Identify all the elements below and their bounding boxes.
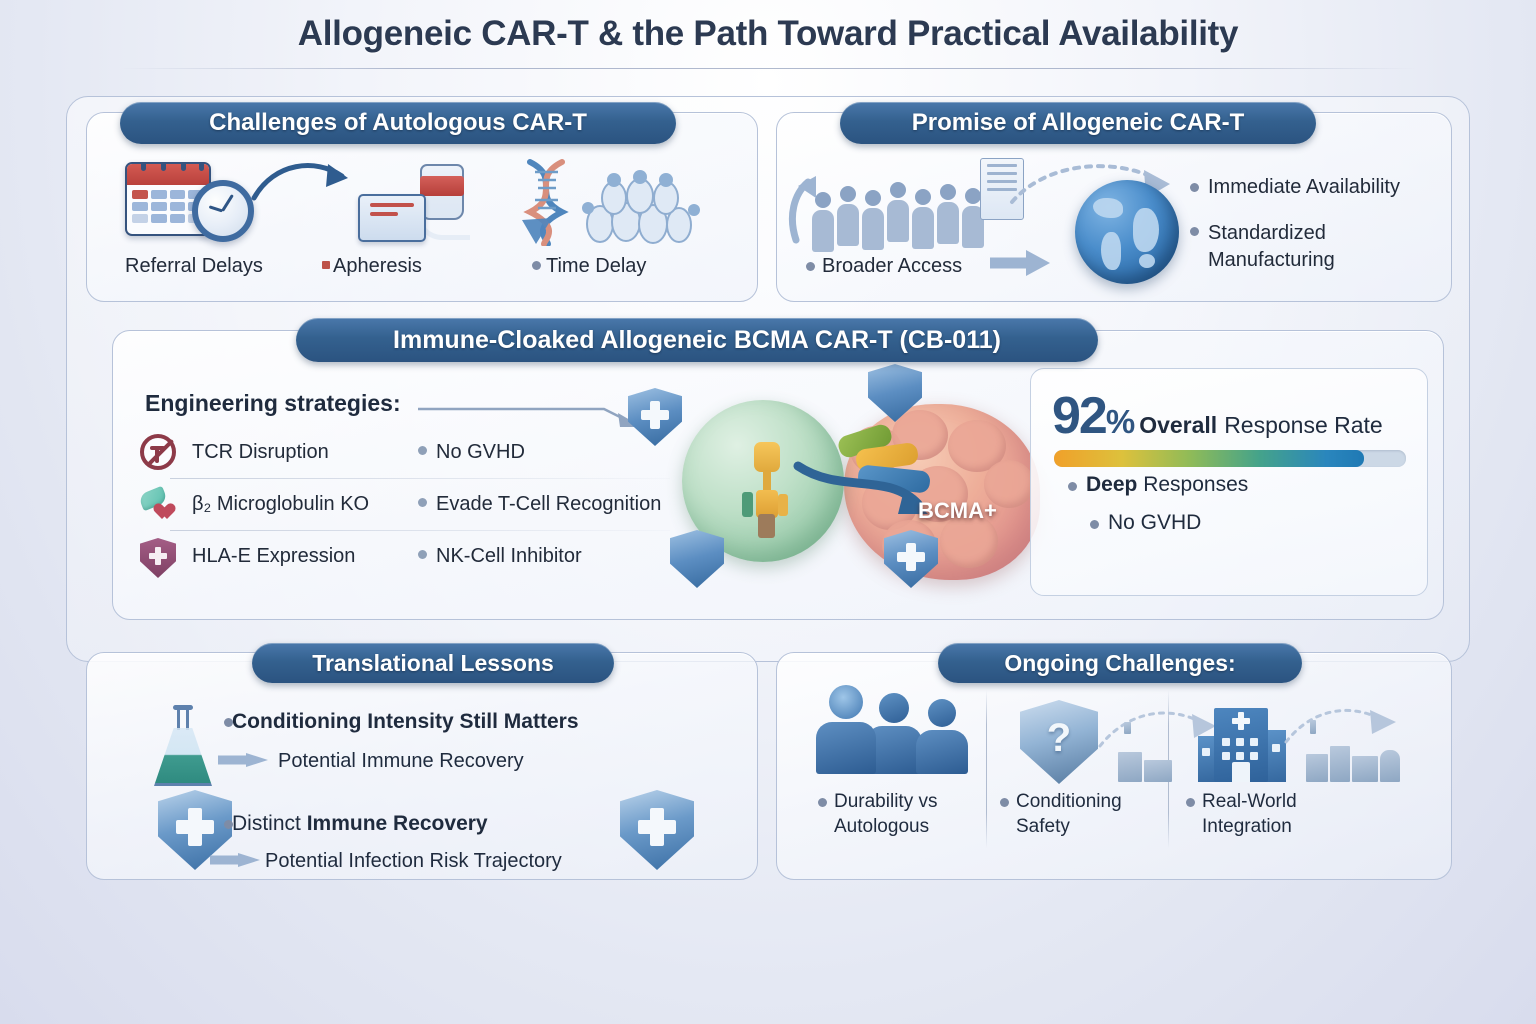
purple-shield-cross-icon (140, 538, 180, 578)
strategy-name: TCR Disruption (192, 441, 329, 464)
bullet-icon (818, 798, 827, 807)
engineering-strategies-title: Engineering strategies: (145, 390, 401, 417)
panel-heading-translational: Translational Lessons (252, 643, 614, 683)
stat-bullet-rest: Responses (1137, 473, 1248, 496)
bullet-icon (1000, 798, 1009, 807)
percent-symbol: % (1106, 403, 1135, 441)
shield-cross-icon (884, 530, 938, 588)
bullet-icon (322, 261, 330, 269)
lesson-strong: Immune Recovery (307, 812, 488, 835)
line1: Real-World (1202, 791, 1297, 812)
divider (170, 478, 670, 479)
bullet-icon (1090, 520, 1099, 529)
divider (170, 530, 670, 531)
bullet-icon (806, 262, 815, 271)
orr-label-rest: Response Rate (1224, 412, 1383, 439)
orr-headline: 92 % Overall Response Rate (1052, 386, 1383, 446)
bullet-icon (1186, 798, 1195, 807)
label-time-delay: Time Delay (546, 255, 646, 278)
factory-icon (1306, 730, 1404, 782)
apheresis-machine-icon (358, 164, 478, 242)
strategy-name: HLA-E Expression (192, 545, 355, 568)
title-divider (120, 68, 1416, 69)
lesson-prefix: Distinct (232, 812, 307, 835)
no-entry-tcell-icon (140, 434, 180, 474)
flask-icon (152, 708, 214, 786)
orr-label-strong: Overall (1139, 412, 1217, 439)
bullet-icon (532, 261, 541, 270)
dna-helix-icon (518, 158, 576, 246)
ribbon-heart-icon (140, 486, 180, 526)
people-group-icon (578, 168, 710, 244)
line2: Autologous (834, 816, 929, 837)
arrow-up-icon (786, 172, 826, 244)
arrow-right-icon (210, 852, 262, 868)
arrow-right-icon (988, 248, 1054, 278)
bullet-icon (1190, 227, 1199, 236)
lesson-infection-risk-sub: Potential Infection Risk Trajectory (265, 850, 562, 873)
people-group-icon (812, 690, 1002, 774)
line1: Durability vs (834, 791, 937, 812)
shield-cycle-icon (670, 530, 724, 588)
arrow-curve-icon (250, 156, 360, 210)
bullet-icon (418, 498, 427, 507)
page-title: Allogeneic CAR-T & the Path Toward Pract… (0, 14, 1536, 54)
orr-percent-value: 92 (1052, 386, 1106, 446)
panel-heading-ongoing: Ongoing Challenges: (938, 643, 1302, 683)
lesson-conditioning-intensity: Conditioning Intensity Still Matters (232, 710, 579, 734)
bcma-label: BCMA+ (918, 498, 997, 524)
line2: Safety (1016, 816, 1070, 837)
leader-line-icon (418, 403, 648, 427)
challenges-icon-row (100, 150, 740, 250)
crowd-icon (808, 160, 998, 250)
strategy-benefit: No GVHD (436, 441, 525, 464)
line2: Integration (1202, 816, 1292, 837)
label-immediate-availability: Immediate Availability (1208, 176, 1400, 199)
label-standardized-manufacturing: Standardized Manufacturing (1208, 220, 1418, 274)
panel-heading-core: Immune-Cloaked Allogeneic BCMA CAR-T (CB… (296, 318, 1098, 362)
lesson-distinct-immune-recovery: Distinct Immune Recovery (232, 812, 488, 836)
bullet-icon (1190, 183, 1199, 192)
clock-icon (192, 180, 254, 242)
bullet-icon (418, 550, 427, 559)
bullet-icon (1068, 482, 1077, 491)
stat-bullet-no-gvhd: No GVHD (1108, 511, 1201, 535)
arrow-right-icon (218, 752, 270, 768)
hospital-icon (1198, 700, 1290, 784)
globe-icon (1075, 180, 1179, 284)
stat-bullet-deep-responses: Deep Responses (1086, 473, 1248, 497)
car-receptor-icon (750, 442, 784, 534)
cart-tumor-illustration: BCMA+ (640, 370, 1060, 618)
strategy-name: β₂ Microglobulin KO (192, 493, 369, 516)
panel-heading-challenges: Challenges of Autologous CAR-T (120, 102, 676, 144)
challenge-conditioning-label: Conditioning Safety (1016, 790, 1122, 839)
strategy-benefit: NK-Cell Inhibitor (436, 545, 582, 568)
label-apheresis: Apheresis (333, 255, 422, 278)
bullet-icon (418, 446, 427, 455)
label-broader-access: Broader Access (822, 255, 962, 278)
orr-progress-fill (1054, 450, 1364, 467)
challenge-durability-label: Durability vs Autologous (834, 790, 937, 839)
panel-heading-promise: Promise of Allogeneic CAR-T (840, 102, 1316, 144)
label-referral-delays: Referral Delays (125, 255, 263, 278)
strategy-row: HLA-E Expression NK-Cell Inhibitor (140, 538, 700, 590)
lesson-immune-recovery-sub: Potential Immune Recovery (278, 750, 524, 773)
line1: Conditioning (1016, 791, 1122, 812)
challenge-realworld-label: Real-World Integration (1202, 790, 1297, 839)
orr-progress-bar (1054, 450, 1406, 467)
strategy-benefit: Evade T-Cell Recognition (436, 493, 661, 516)
stat-bullet-strong: Deep (1086, 473, 1137, 496)
factory-icon (1118, 730, 1178, 782)
